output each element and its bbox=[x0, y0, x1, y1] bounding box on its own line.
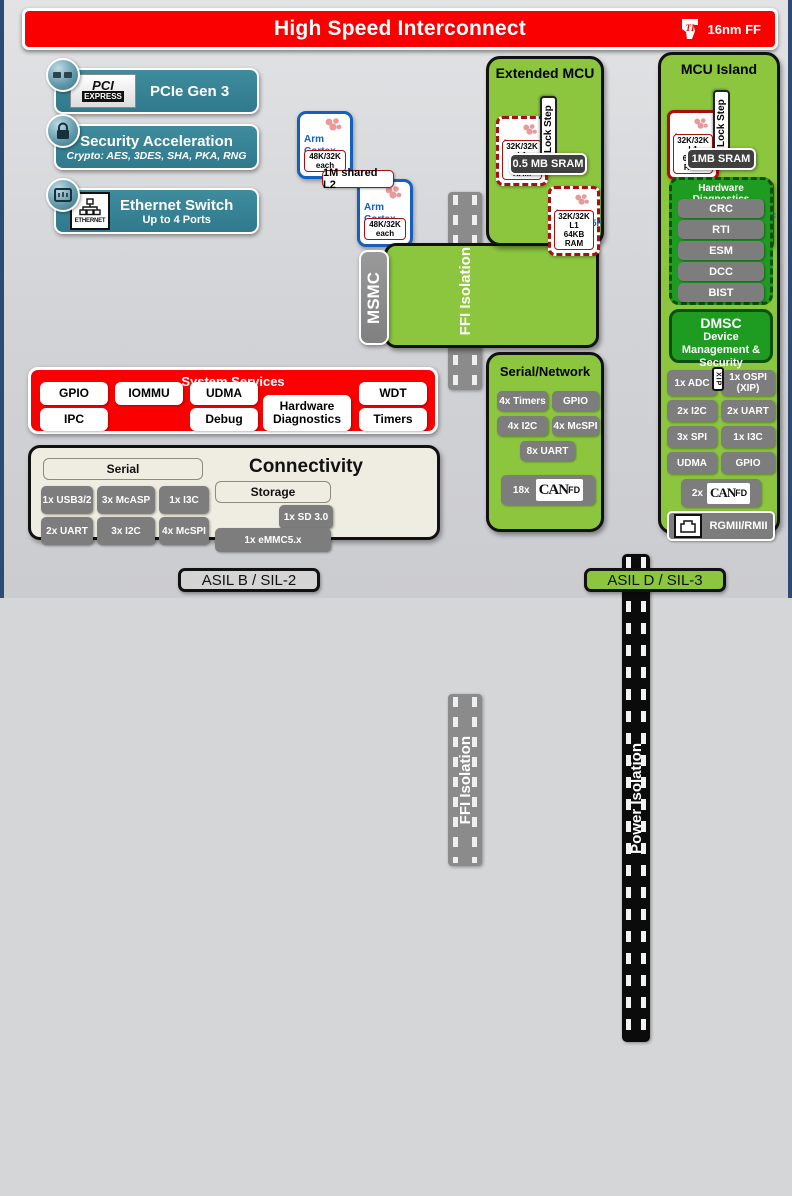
mcu-periph-adc[interactable]: 1x ADC bbox=[667, 370, 717, 396]
sn-can-count: 18x bbox=[513, 485, 530, 496]
ext-mcu-r5f-core-1[interactable]: ArmCortex R5F 32K/32K L164KB RAM bbox=[548, 186, 600, 256]
sysserv-iommu[interactable]: IOMMU bbox=[115, 382, 183, 405]
security-label: Security Acceleration bbox=[80, 133, 233, 150]
sysserv-udma[interactable]: UDMA bbox=[190, 382, 258, 405]
security-sublabel: Crypto: AES, 3DES, SHA, PKA, RNG bbox=[67, 150, 247, 162]
power-isolation-label: Power Isolation bbox=[628, 743, 645, 854]
ti-logo: TI bbox=[679, 16, 701, 42]
a72-shared-l2: 1M shared L2 bbox=[322, 170, 394, 188]
a72-core-1-cache: 48K/32K each bbox=[364, 218, 406, 240]
mcu-rgmii-rmii[interactable]: RGMII/RMII bbox=[667, 511, 775, 541]
dmsc-block[interactable]: DMSC Device Management &Security Control… bbox=[669, 309, 773, 363]
sn-item-0[interactable]: 4x Timers bbox=[497, 391, 548, 411]
shared-memory-island bbox=[384, 243, 599, 348]
mcu-periph-udma[interactable]: UDMA bbox=[667, 452, 717, 474]
conn-usb[interactable]: 1x USB3/2 bbox=[41, 486, 93, 514]
network-port-icon bbox=[46, 178, 80, 212]
ext-mcu-sram: 0.5 MB SRAM bbox=[509, 153, 587, 175]
hwdiag-item-1[interactable]: RTI bbox=[678, 220, 764, 239]
sn-item-3[interactable]: 4x McSPI bbox=[552, 416, 599, 436]
sn-item-1[interactable]: GPIO bbox=[552, 391, 599, 411]
conn-i2c[interactable]: 3x I2C bbox=[97, 517, 155, 545]
lock-icon bbox=[46, 114, 80, 148]
mcu-periph-spi[interactable]: 3x SPI bbox=[667, 426, 717, 448]
power-isolation-bar: Power Isolation bbox=[622, 554, 650, 1042]
mcu-lockstep: Lock Step bbox=[713, 90, 730, 156]
extended-mcu-title: Extended MCU bbox=[489, 65, 601, 81]
xip-badge: XIP bbox=[712, 367, 724, 391]
conn-mcspi[interactable]: 4x McSPI bbox=[159, 517, 209, 545]
ethernet-label: Ethernet Switch bbox=[120, 197, 233, 214]
serial-group-label: Serial bbox=[43, 458, 203, 480]
ext-mcu-r5f-core-1-memory: 32K/32K L164KB RAM bbox=[554, 210, 594, 250]
mcu-sram: 1MB SRAM bbox=[686, 148, 756, 170]
svg-text:TI: TI bbox=[685, 23, 694, 33]
ethernet-icon-caption: ETHERNET bbox=[75, 218, 106, 224]
sysserv-timers[interactable]: Timers bbox=[359, 408, 427, 431]
ti-process-badge: TI 16nm FF bbox=[679, 16, 761, 42]
serial-network-island: Serial/Network 4x Timers GPIO 4x I2C 4x … bbox=[486, 352, 604, 532]
conn-mcasp[interactable]: 3x McASP bbox=[97, 486, 155, 514]
security-acceleration-card[interactable]: Security Acceleration Crypto: AES, 3DES,… bbox=[54, 124, 259, 170]
mcu-island: MCU Island ArmCortex R5F 32K/32K L164KB … bbox=[658, 52, 780, 534]
process-node-label: 16nm FF bbox=[708, 22, 761, 37]
ethernet-switch-card[interactable]: ETHERNET Ethernet Switch Up to 4 Ports bbox=[54, 188, 259, 234]
mcu-periph-ospi[interactable]: 1x OSPI(XIP) bbox=[721, 370, 775, 396]
diagram-canvas: High Speed Interconnect TI 16nm FF PCI E… bbox=[0, 0, 792, 598]
hwdiag-item-4[interactable]: BIST bbox=[678, 283, 764, 302]
mcu-island-title: MCU Island bbox=[661, 61, 777, 77]
conn-uart[interactable]: 2x UART bbox=[41, 517, 93, 545]
ffi-isolation-bottom: FFI Isolation bbox=[448, 694, 482, 866]
asil-d-label: ASIL D / SIL-3 bbox=[584, 568, 726, 592]
mcu-can-count: 2x bbox=[692, 488, 703, 499]
ethernet-sublabel: Up to 4 Ports bbox=[142, 214, 210, 226]
conn-emmc[interactable]: 1x eMMC5.x bbox=[215, 528, 331, 552]
can-logo-word: CAN bbox=[710, 485, 735, 501]
pcie-label: PCIe Gen 3 bbox=[150, 83, 229, 100]
ffi-isolation-top-label: FFI Isolation bbox=[457, 247, 474, 335]
hwdiag-item-0[interactable]: CRC bbox=[678, 199, 764, 218]
msmc-label: MSMC bbox=[364, 272, 384, 324]
sn-item-4[interactable]: 8x UART bbox=[520, 441, 575, 461]
connectivity-block: Connectivity Serial Storage 1x USB3/2 3x… bbox=[28, 445, 440, 540]
pci-express-logo: PCI EXPRESS bbox=[70, 74, 136, 108]
msmc-block[interactable]: MSMC bbox=[359, 250, 389, 345]
sysserv-ipc[interactable]: IPC bbox=[40, 408, 108, 431]
asil-b-label: ASIL B / SIL-2 bbox=[178, 568, 320, 592]
sn-item-2[interactable]: 4x I2C bbox=[497, 416, 548, 436]
pci-logo-text: PCI bbox=[92, 80, 114, 91]
ffi-isolation-bottom-label: FFI Isolation bbox=[457, 736, 474, 824]
rgmii-label: RGMII/RMII bbox=[709, 520, 767, 532]
storage-group-label: Storage bbox=[215, 481, 331, 503]
sysserv-debug[interactable]: Debug bbox=[190, 408, 258, 431]
mcu-periph-gpio[interactable]: GPIO bbox=[721, 452, 775, 474]
sysserv-wdt[interactable]: WDT bbox=[359, 382, 427, 405]
can-logo-word: CAN bbox=[539, 482, 569, 499]
express-logo-text: EXPRESS bbox=[82, 91, 124, 102]
dmsc-title: DMSC bbox=[672, 315, 770, 331]
rj45-icon bbox=[674, 514, 702, 538]
high-speed-interconnect-bar: High Speed Interconnect TI 16nm FF bbox=[22, 8, 778, 50]
extended-mcu-island: Extended MCU ArmCortex R5F 32K/32K L164K… bbox=[486, 56, 604, 246]
connector-icon bbox=[46, 58, 80, 92]
sysserv-hardware-diagnostics[interactable]: HardwareDiagnostics bbox=[263, 395, 351, 431]
mcu-hardware-diagnostics-group: Hardware Diagnostics CRC RTI ESM DCC BIS… bbox=[669, 177, 773, 305]
hwdiag-item-3[interactable]: DCC bbox=[678, 262, 764, 281]
conn-sd[interactable]: 1x SD 3.0 bbox=[279, 505, 333, 529]
sn-can-fd[interactable]: 18x CANFD bbox=[501, 475, 595, 505]
can-logo-suffix: FD bbox=[568, 485, 580, 495]
mcu-periph-i2c[interactable]: 2x I2C bbox=[667, 400, 717, 422]
can-logo-suffix: FD bbox=[735, 488, 747, 498]
system-services-block: System Services GPIO IOMMU UDMA WDT IPC … bbox=[28, 367, 438, 434]
connectivity-title: Connectivity bbox=[221, 456, 391, 478]
mcu-periph-uart[interactable]: 2x UART bbox=[721, 400, 775, 422]
can-fd-logo: CANFD bbox=[536, 479, 584, 501]
pcie-card[interactable]: PCI EXPRESS PCIe Gen 3 bbox=[54, 68, 259, 114]
mcu-periph-i3c[interactable]: 1x I3C bbox=[721, 426, 775, 448]
sysserv-gpio[interactable]: GPIO bbox=[40, 382, 108, 405]
can-fd-logo: CANFD bbox=[707, 483, 750, 504]
hwdiag-item-2[interactable]: ESM bbox=[678, 241, 764, 260]
interconnect-title: High Speed Interconnect bbox=[274, 17, 526, 41]
conn-i3c[interactable]: 1x I3C bbox=[159, 486, 209, 514]
mcu-can-fd[interactable]: 2x CANFD bbox=[681, 479, 761, 507]
serial-network-title: Serial/Network bbox=[489, 364, 601, 379]
